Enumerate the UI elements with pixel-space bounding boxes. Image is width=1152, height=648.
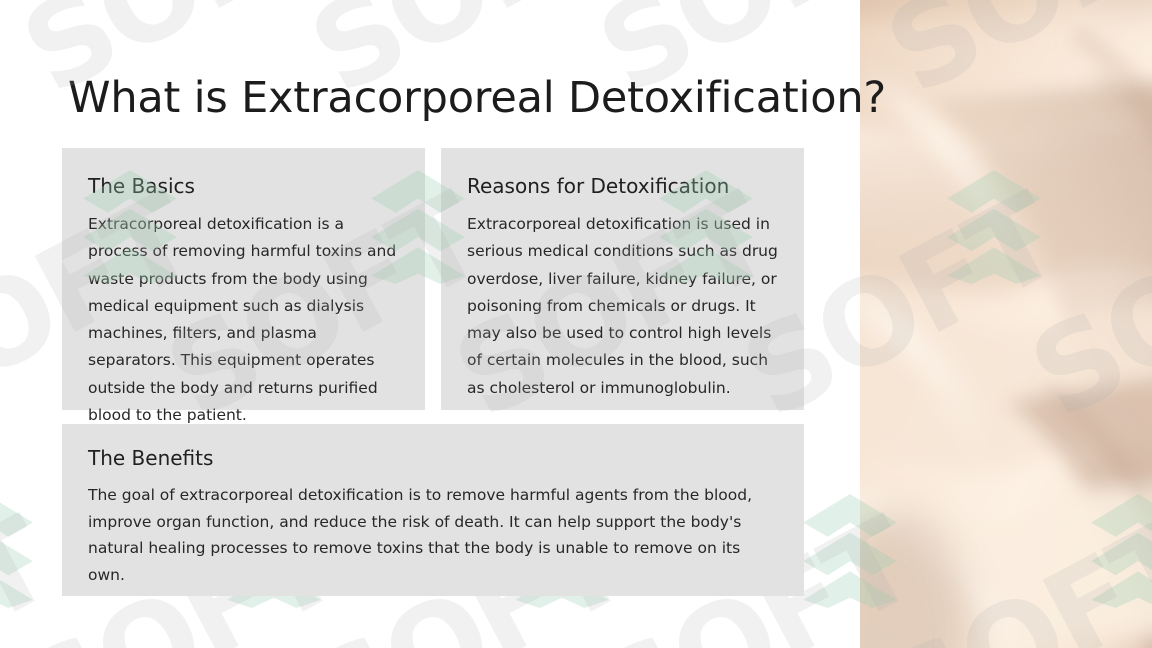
silk-fabric-image xyxy=(860,0,1152,648)
silk-fabric-illustration xyxy=(860,0,1152,648)
page-title: What is Extracorporeal Detoxification? xyxy=(68,74,886,123)
card-reasons-for-detoxification: Reasons for Detoxification Extracorporea… xyxy=(441,148,804,410)
card-the-benefits: The Benefits The goal of extracorporeal … xyxy=(62,424,804,596)
card-body: Extracorporeal detoxification is used in… xyxy=(467,211,778,402)
card-body: The goal of extracorporeal detoxificatio… xyxy=(88,482,778,589)
watermark-text: SOFT xyxy=(0,501,65,648)
card-title: Reasons for Detoxification xyxy=(467,174,778,198)
chevron-s-logo-icon xyxy=(0,492,38,610)
card-title: The Basics xyxy=(88,174,399,198)
slide: What is Extracorporeal Detoxification? T… xyxy=(0,0,1152,648)
card-the-basics: The Basics Extracorporeal detoxification… xyxy=(62,148,425,410)
card-body: Extracorporeal detoxification is a proce… xyxy=(88,211,399,429)
card-title: The Benefits xyxy=(88,446,778,470)
watermark-text: SOFT xyxy=(0,0,65,112)
